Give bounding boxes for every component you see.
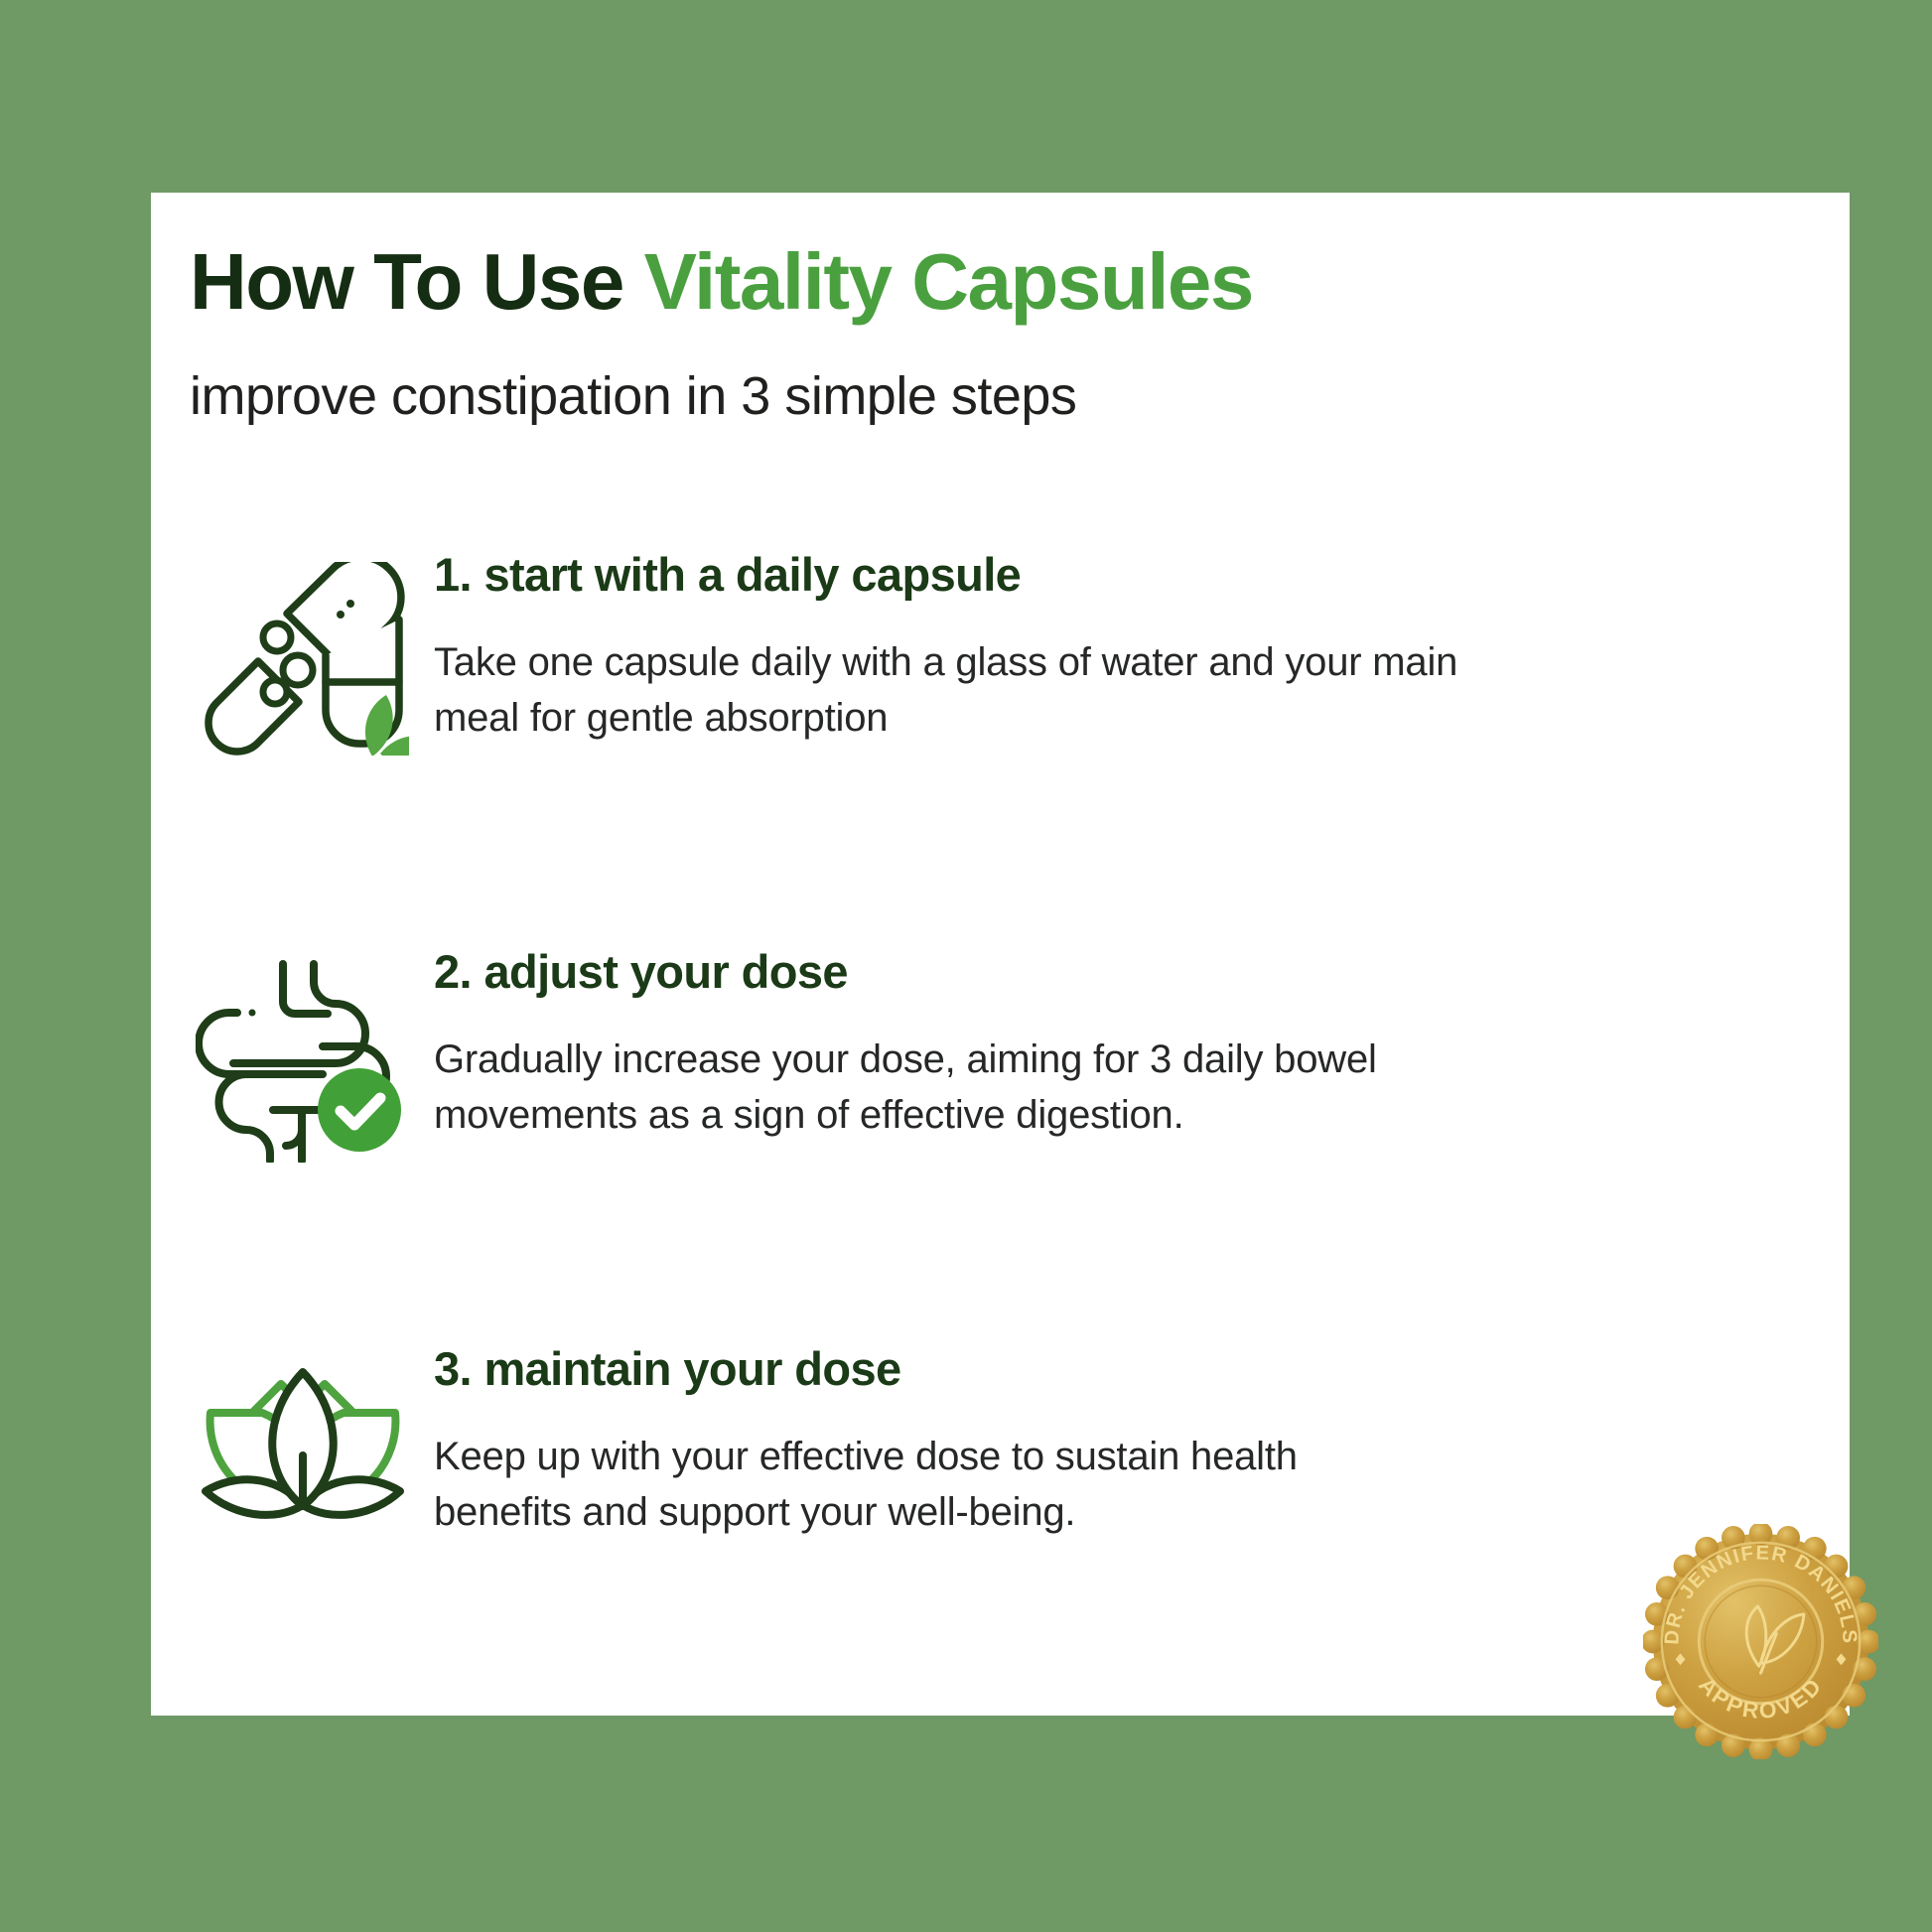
step-text-3: Keep up with your effective dose to sust…	[434, 1429, 1367, 1540]
page-title: How To Use Vitality Capsules	[190, 242, 1253, 322]
step-text-1: Take one capsule daily with a glass of w…	[434, 634, 1516, 746]
step-item-1: 1. start with a daily capsule Take one c…	[171, 550, 1819, 756]
lotus-flower-icon	[171, 1344, 434, 1530]
page-title-part-1: How To Use	[190, 237, 644, 326]
step-heading-3: 3. maintain your dose	[434, 1344, 1819, 1395]
step-item-3: 3. maintain your dose Keep up with your …	[171, 1344, 1819, 1540]
step-body-3: 3. maintain your dose Keep up with your …	[434, 1344, 1819, 1540]
page-title-part-2: Vitality Capsules	[644, 237, 1253, 326]
infographic-canvas: How To Use Vitality Capsules improve con…	[0, 0, 1932, 1932]
step-text-2: Gradually increase your dose, aiming for…	[434, 1032, 1437, 1143]
intestine-check-icon	[171, 947, 434, 1163]
approval-seal-badge: DR. JENNIFER DANIELS APPROVED	[1643, 1524, 1878, 1759]
step-item-2: 2. adjust your dose Gradually increase y…	[171, 947, 1819, 1163]
step-heading-1: 1. start with a daily capsule	[434, 550, 1819, 601]
capsule-droplet-leaf-icon	[171, 550, 434, 756]
step-body-1: 1. start with a daily capsule Take one c…	[434, 550, 1819, 746]
content-card: How To Use Vitality Capsules improve con…	[151, 193, 1850, 1716]
step-heading-2: 2. adjust your dose	[434, 947, 1819, 998]
step-body-2: 2. adjust your dose Gradually increase y…	[434, 947, 1819, 1143]
page-subtitle: improve constipation in 3 simple steps	[190, 369, 1076, 423]
